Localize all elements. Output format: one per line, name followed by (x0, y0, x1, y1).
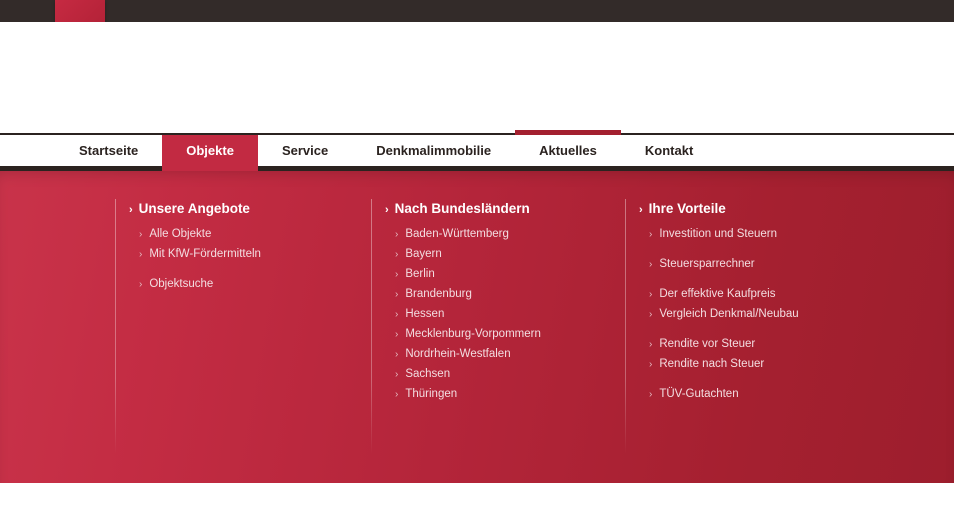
nav-item-objekte[interactable]: Objekte (162, 135, 258, 166)
dropdown-link-baden-wuerttemberg[interactable]: › Baden-Württemberg (385, 228, 541, 248)
dropdown-link-label: Thüringen (405, 388, 457, 400)
dropdown-link-label: Alle Objekte (149, 228, 211, 240)
dropdown-link-label: Rendite vor Steuer (659, 338, 755, 350)
chevron-right-icon: › (395, 290, 398, 300)
dropdown-link-alle-objekte[interactable]: › Alle Objekte (129, 228, 261, 248)
dropdown-link-label: Berlin (405, 268, 434, 280)
chevron-right-icon: › (129, 205, 133, 216)
nav-item-aktuelles[interactable]: Aktuelles (515, 135, 621, 166)
chevron-right-icon: › (139, 280, 142, 290)
chevron-right-icon: › (139, 230, 142, 240)
dropdown-link-steuersparrechner[interactable]: › Steuersparrechner (639, 258, 799, 278)
dropdown-link-bayern[interactable]: › Bayern (385, 248, 541, 268)
chevron-right-icon: › (395, 370, 398, 380)
dropdown-link-mit-kfw-foerdermitteln[interactable]: › Mit KfW-Fördermitteln (129, 248, 261, 268)
column-divider (625, 199, 626, 454)
chevron-right-icon: › (395, 350, 398, 360)
dropdown-column-heading[interactable]: › Ihre Vorteile (639, 201, 799, 216)
nav-item-denkmalimmobilie[interactable]: Denkmalimmobilie (352, 135, 515, 166)
nav-left-spacer (0, 135, 55, 166)
top-utility-bar (0, 0, 954, 22)
dropdown-column-heading[interactable]: › Unsere Angebote (129, 201, 261, 216)
dropdown-link-vergleich-denkmal-neubau[interactable]: › Vergleich Denkmal/Neubau (639, 308, 799, 328)
dropdown-column-unsere-angebote: › Unsere Angebote › Alle Objekte › Mit K… (129, 201, 261, 298)
nav-item-label: Objekte (186, 143, 234, 158)
chevron-right-icon: › (649, 230, 652, 240)
nav-item-startseite[interactable]: Startseite (55, 135, 162, 166)
main-navigation: Startseite Objekte Service Denkmalimmobi… (0, 135, 954, 166)
chevron-right-icon: › (649, 290, 652, 300)
mega-dropdown-panel: › Unsere Angebote › Alle Objekte › Mit K… (0, 171, 954, 483)
dropdown-link-label: Rendite nach Steuer (659, 358, 764, 370)
nav-item-service[interactable]: Service (258, 135, 352, 166)
chevron-right-icon: › (395, 330, 398, 340)
dropdown-link-der-effektive-kaufpreis[interactable]: › Der effektive Kaufpreis (639, 288, 799, 308)
header-band (0, 22, 954, 135)
dropdown-column-heading-label: Nach Bundesländern (395, 201, 530, 216)
dropdown-column-heading-label: Unsere Angebote (139, 201, 250, 216)
page-bottom-area (0, 483, 954, 516)
chevron-right-icon: › (649, 390, 652, 400)
dropdown-link-label: Sachsen (405, 368, 450, 380)
nav-item-label: Denkmalimmobilie (376, 143, 491, 158)
chevron-right-icon: › (639, 205, 643, 216)
nav-item-label: Aktuelles (539, 143, 597, 158)
dropdown-link-hessen[interactable]: › Hessen (385, 308, 541, 328)
dropdown-link-label: Baden-Württemberg (405, 228, 509, 240)
nav-item-label: Startseite (79, 143, 138, 158)
dropdown-link-rendite-nach-steuer[interactable]: › Rendite nach Steuer (639, 358, 799, 378)
chevron-right-icon: › (395, 390, 398, 400)
dropdown-link-tuev-gutachten[interactable]: › TÜV-Gutachten (639, 388, 799, 408)
dropdown-link-label: Mit KfW-Fördermitteln (149, 248, 261, 260)
nav-item-kontakt[interactable]: Kontakt (621, 135, 717, 166)
chevron-right-icon: › (385, 205, 389, 216)
dropdown-link-rendite-vor-steuer[interactable]: › Rendite vor Steuer (639, 338, 799, 358)
dropdown-link-label: Brandenburg (405, 288, 472, 300)
dropdown-link-mecklenburg-vorpommern[interactable]: › Mecklenburg-Vorpommern (385, 328, 541, 348)
chevron-right-icon: › (139, 250, 142, 260)
dropdown-link-objektsuche[interactable]: › Objektsuche (129, 278, 261, 298)
dropdown-link-label: Der effektive Kaufpreis (659, 288, 775, 300)
column-divider (115, 199, 116, 454)
dropdown-column-heading-label: Ihre Vorteile (649, 201, 726, 216)
dropdown-link-label: Bayern (405, 248, 441, 260)
dropdown-column-heading[interactable]: › Nach Bundesländern (385, 201, 541, 216)
chevron-right-icon: › (395, 270, 398, 280)
dropdown-link-label: Objektsuche (149, 278, 213, 290)
chevron-right-icon: › (649, 360, 652, 370)
column-divider (371, 199, 372, 454)
nav-item-label: Service (282, 143, 328, 158)
dropdown-link-nordrhein-westfalen[interactable]: › Nordrhein-Westfalen (385, 348, 541, 368)
nav-item-label: Kontakt (645, 143, 693, 158)
dropdown-link-label: TÜV-Gutachten (659, 388, 738, 400)
chevron-right-icon: › (649, 340, 652, 350)
top-utility-links[interactable] (370, 0, 500, 22)
chevron-right-icon: › (395, 250, 398, 260)
dropdown-link-investition-und-steuern[interactable]: › Investition und Steuern (639, 228, 799, 248)
dropdown-link-label: Mecklenburg-Vorpommern (405, 328, 541, 340)
dropdown-link-thueringen[interactable]: › Thüringen (385, 388, 541, 408)
dropdown-link-label: Steuersparrechner (659, 258, 754, 270)
dropdown-link-label: Hessen (405, 308, 444, 320)
dropdown-column-nach-bundeslaendern: › Nach Bundesländern › Baden-Württemberg… (385, 201, 541, 408)
chevron-right-icon: › (395, 310, 398, 320)
dropdown-link-brandenburg[interactable]: › Brandenburg (385, 288, 541, 308)
dropdown-link-sachsen[interactable]: › Sachsen (385, 368, 541, 388)
dropdown-column-ihre-vorteile: › Ihre Vorteile › Investition und Steuer… (639, 201, 799, 408)
chevron-right-icon: › (649, 310, 652, 320)
dropdown-link-label: Investition und Steuern (659, 228, 777, 240)
chevron-right-icon: › (649, 260, 652, 270)
dropdown-link-label: Nordrhein-Westfalen (405, 348, 510, 360)
chevron-right-icon: › (395, 230, 398, 240)
dropdown-link-berlin[interactable]: › Berlin (385, 268, 541, 288)
dropdown-link-label: Vergleich Denkmal/Neubau (659, 308, 798, 320)
